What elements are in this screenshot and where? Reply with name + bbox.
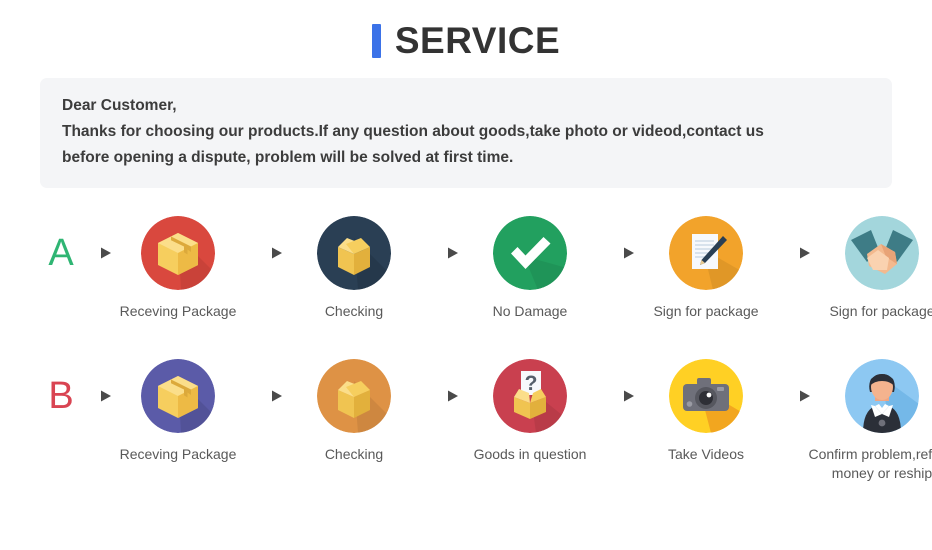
flow-step-label: Sign for package — [631, 302, 781, 321]
closed-box-icon — [141, 359, 215, 433]
notice-line-2: Thanks for choosing our products.If any … — [62, 119, 870, 145]
notice-line-1: Dear Customer, — [62, 93, 870, 119]
flow-step-b-5: Confirm problem,refund money or reship — [816, 349, 932, 483]
person-avatar-icon — [845, 359, 919, 433]
title-accent-bar — [372, 24, 381, 58]
flow-step-b-4: Take Videos — [640, 349, 772, 464]
title-text: SERVICE — [395, 22, 560, 59]
handshake-icon — [845, 216, 919, 290]
arrow-right-icon — [596, 206, 640, 300]
arrow-right-icon — [244, 349, 288, 443]
svg-text:?: ? — [525, 372, 538, 395]
arrow-right-icon — [596, 349, 640, 443]
open-box-icon — [317, 359, 391, 433]
flow-step-label: Checking — [279, 302, 429, 321]
arrow-right-icon — [244, 206, 288, 300]
flow-step-a-3: No Damage — [464, 206, 596, 321]
arrow-right-icon — [420, 349, 464, 443]
flow-step-label: Take Videos — [631, 445, 781, 464]
arrow-right-icon — [772, 349, 816, 443]
flow-label-b: B — [44, 349, 78, 443]
flow-row-a: A Receving Package — [0, 206, 932, 321]
flow-row-b: B Receving Package — [0, 349, 932, 483]
flow-label-a: A — [44, 206, 78, 300]
notice-line-3: before opening a dispute, problem will b… — [62, 145, 870, 171]
open-box-icon — [317, 216, 391, 290]
document-pen-icon — [669, 216, 743, 290]
arrow-right-icon — [772, 206, 816, 300]
flow-step-label: Confirm problem,refund money or reship — [792, 445, 932, 483]
flow-step-a-4: Sign for package — [640, 206, 772, 321]
closed-box-icon — [141, 216, 215, 290]
question-box-icon: ? — [493, 359, 567, 433]
flow-step-label: Sign for package — [807, 302, 932, 321]
flow-step-a-2: Checking — [288, 206, 420, 321]
arrow-right-icon — [78, 349, 112, 443]
page-title: SERVICE — [0, 0, 932, 59]
flow-step-b-1: Receving Package — [112, 349, 244, 464]
flow-step-label: Receving Package — [103, 445, 253, 464]
flow-step-b-3: ? Goods in question — [464, 349, 596, 464]
flow-step-label: Receving Package — [103, 302, 253, 321]
customer-notice-box: Dear Customer, Thanks for choosing our p… — [40, 78, 892, 188]
flow-step-label: Checking — [279, 445, 429, 464]
flow-step-a-1: Receving Package — [112, 206, 244, 321]
flow-step-label: No Damage — [455, 302, 605, 321]
camera-icon — [669, 359, 743, 433]
flow-step-a-5: Sign for package — [816, 206, 932, 321]
check-mark-icon — [493, 216, 567, 290]
flow-step-b-2: Checking — [288, 349, 420, 464]
arrow-right-icon — [78, 206, 112, 300]
flow-step-label: Goods in question — [455, 445, 605, 464]
arrow-right-icon — [420, 206, 464, 300]
